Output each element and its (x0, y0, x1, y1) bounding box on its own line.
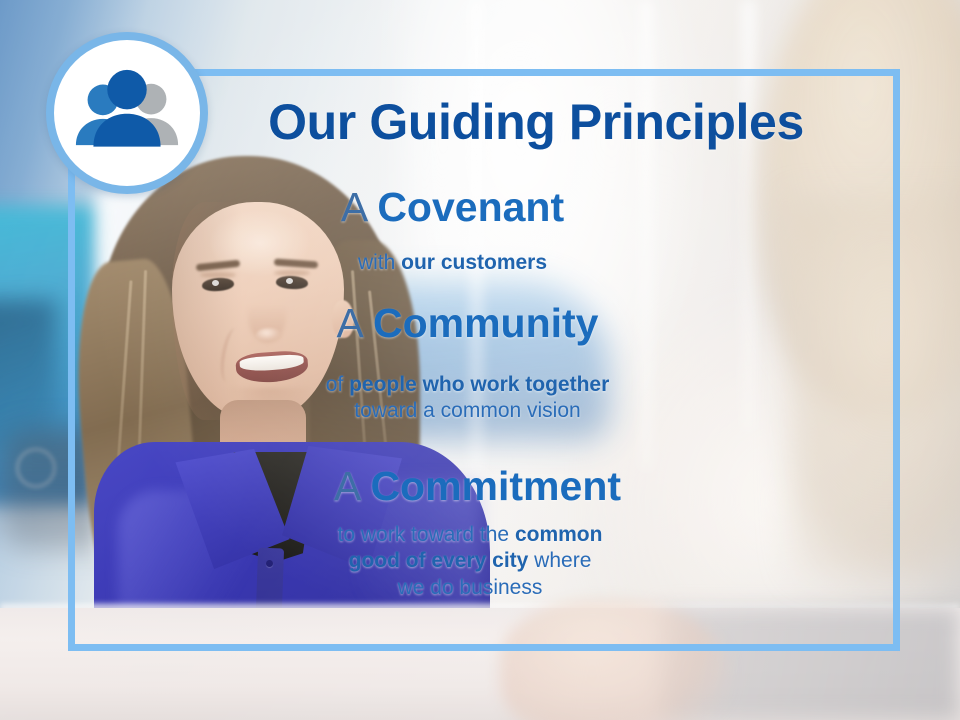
principle-3-lead: A (334, 463, 370, 509)
principle-2-lead: A (337, 300, 373, 346)
principle-3-keyword: Commitment (370, 463, 621, 509)
subline-part: to work toward the (338, 523, 515, 546)
subject-teeth (239, 354, 304, 372)
principle-2-subline: toward a common vision (0, 398, 935, 424)
subline-part: where (528, 549, 591, 572)
subline-part: with (358, 251, 401, 274)
principle-2-title: A Community (0, 302, 935, 345)
guiding-principles-graphic: FLOW FLOW AUTOMOTIVE (0, 0, 960, 720)
principle-1-lead: A (341, 184, 377, 230)
subline-part-bold: people who work together (349, 373, 609, 396)
principle-3-title: A Commitment (0, 465, 955, 508)
subject-eye-highlight (286, 278, 293, 284)
principle-1-title: A Covenant (0, 186, 905, 229)
principle-1-subline: with our customers (0, 250, 905, 276)
principle-3-subtext: to work toward the common good of every … (0, 522, 940, 601)
subline-part-bold: good of every city (349, 549, 529, 572)
subject-eye-highlight (212, 280, 219, 286)
subline-part: toward a common vision (354, 399, 580, 422)
page-title: Our Guiding Principles (0, 93, 960, 151)
principle-2-keyword: Community (373, 300, 599, 346)
principle-3-subline: to work toward the common (0, 522, 940, 548)
principle-2-subtext: of people who work together toward a com… (0, 372, 935, 425)
principle-2-subline: of people who work together (0, 372, 935, 398)
principle-3-subline: good of every city where (0, 548, 940, 574)
subline-part-bold: our customers (401, 251, 547, 274)
principle-3-subline: we do business (0, 575, 940, 601)
principle-1-subtext: with our customers (0, 250, 905, 276)
subline-part-bold: common (515, 523, 603, 546)
subline-part: of (326, 373, 349, 396)
subline-part: we do business (398, 576, 543, 599)
principle-1-keyword: Covenant (377, 184, 564, 230)
